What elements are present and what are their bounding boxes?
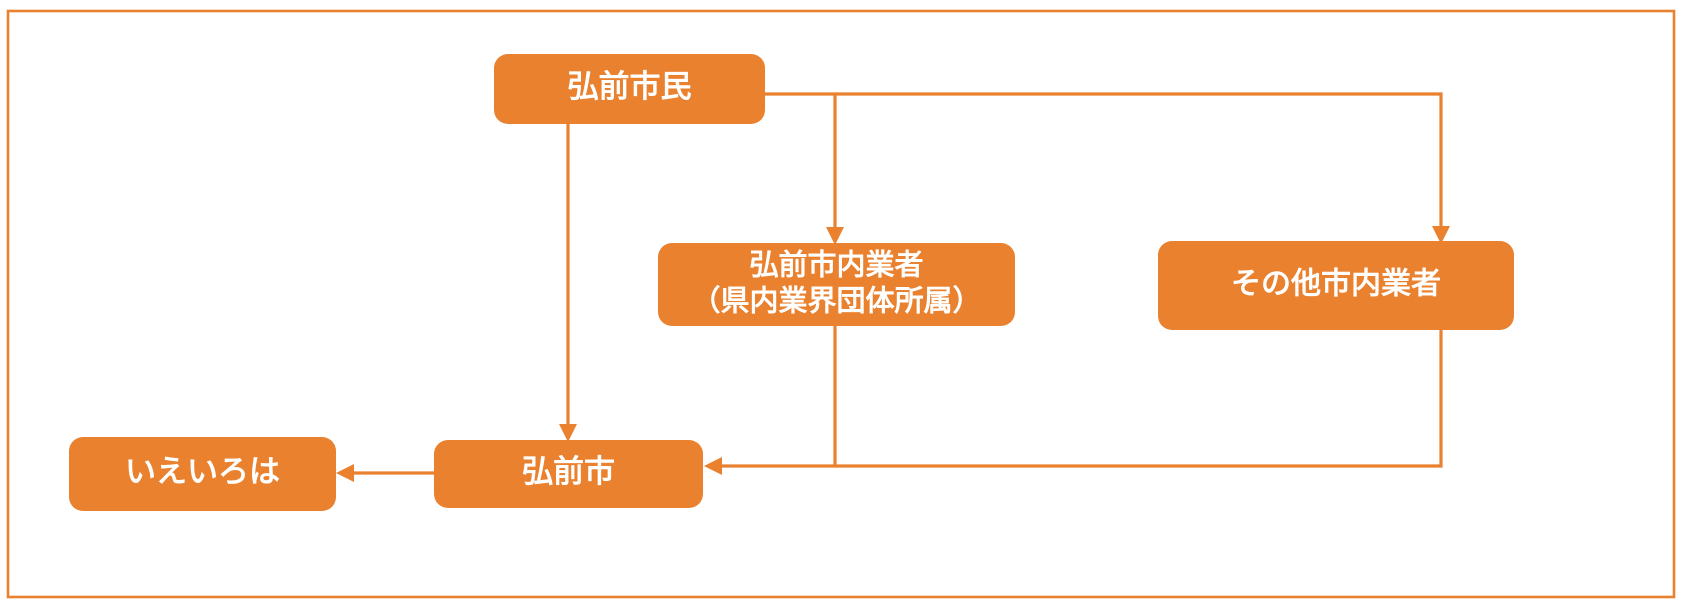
nodes-layer: 弘前市民弘前市内業者（県内業界団体所属）その他市内業者弘前市いえいろは: [69, 54, 1514, 511]
node-other-contractor-label-line-0: その他市内業者: [1231, 267, 1441, 300]
node-citizen-label: 弘前市民: [568, 69, 692, 104]
node-ieiroha[interactable]: いえいろは: [69, 437, 336, 511]
edge-other-contractor-to-city: [835, 330, 1441, 466]
flow-diagram-canvas: 弘前市民弘前市内業者（県内業界団体所属）その他市内業者弘前市いえいろは: [0, 0, 1684, 606]
edge-local-contractor-to-city-line: [714, 326, 835, 466]
edge-other-contractor-to-city-line: [835, 330, 1441, 466]
edge-citizen-to-other-contractor-line: [835, 94, 1441, 234]
edge-citizen-to-other-contractor: [835, 94, 1450, 244]
node-local-contractor-label-line-0: 弘前市内業者: [749, 247, 923, 281]
node-other-contractor-label: その他市内業者: [1231, 267, 1441, 300]
edge-city-to-ieiroha-arrowhead-icon: [336, 464, 354, 482]
edge-citizen-to-local-contractor-line: [765, 94, 835, 235]
node-local-contractor-label-line-1: （県内業界団体所属）: [691, 284, 981, 317]
node-city[interactable]: 弘前市: [434, 440, 703, 508]
edge-citizen-to-city-arrowhead-icon: [559, 424, 577, 442]
node-citizen[interactable]: 弘前市民: [494, 54, 765, 124]
node-city-label: 弘前市: [522, 454, 615, 489]
node-city-label-line-0: 弘前市: [522, 454, 615, 489]
edge-local-contractor-to-city-arrowhead-icon: [704, 457, 722, 475]
node-citizen-label-line-0: 弘前市民: [568, 69, 692, 104]
edge-local-contractor-to-city: [704, 326, 835, 475]
node-other-contractor[interactable]: その他市内業者: [1158, 241, 1514, 330]
edge-city-to-ieiroha: [336, 464, 434, 482]
flow-diagram-svg: 弘前市民弘前市内業者（県内業界団体所属）その他市内業者弘前市いえいろは: [0, 0, 1684, 606]
node-ieiroha-label-line-0: いえいろは: [125, 454, 280, 489]
edge-citizen-to-local-contractor: [765, 94, 844, 245]
edge-citizen-to-local-contractor-arrowhead-icon: [826, 227, 844, 245]
node-local-contractor[interactable]: 弘前市内業者（県内業界団体所属）: [658, 243, 1015, 326]
edge-citizen-to-city: [559, 124, 577, 442]
node-ieiroha-label: いえいろは: [125, 454, 280, 489]
